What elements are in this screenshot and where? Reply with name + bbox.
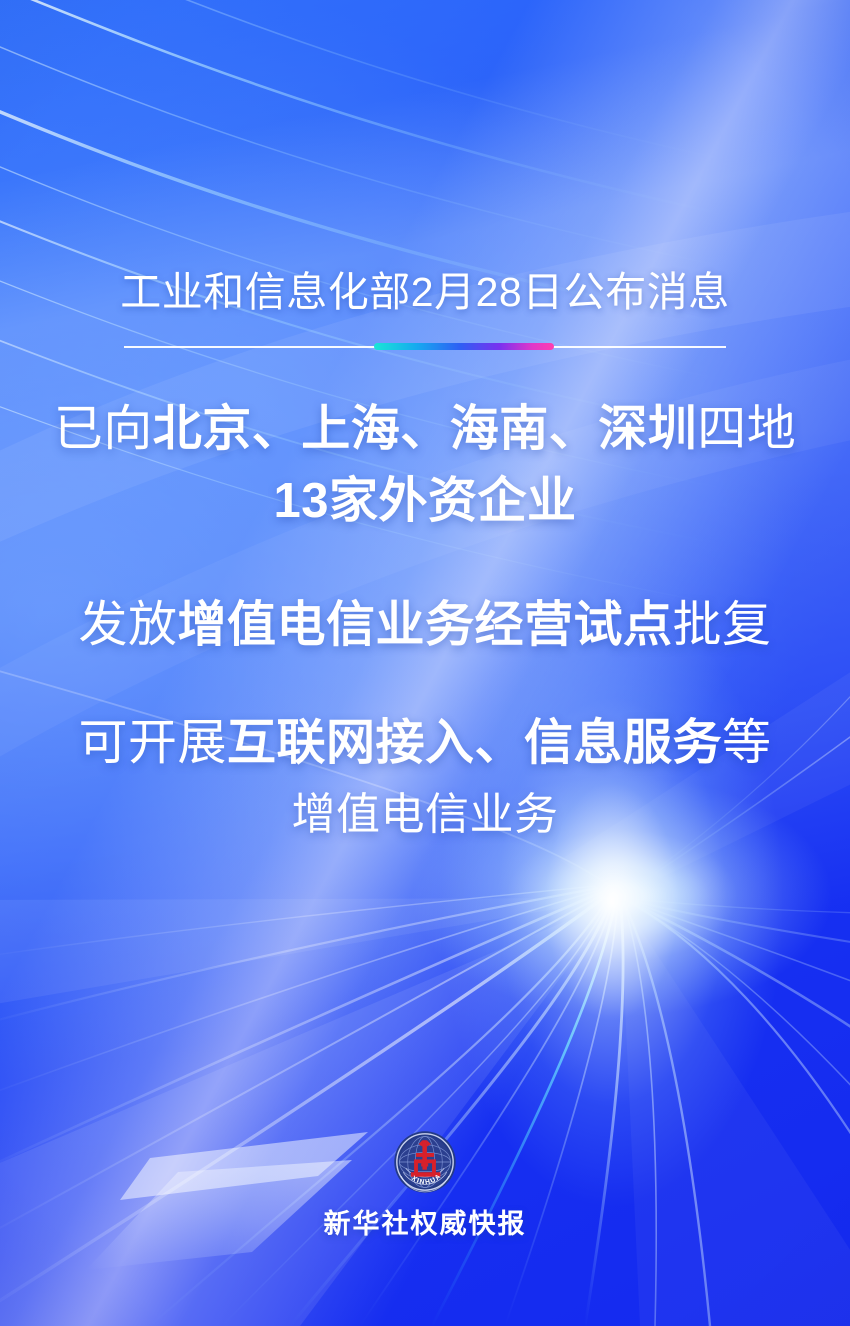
line-3-segment-3: 批复 bbox=[673, 598, 772, 652]
line-3-segment-2: 增值电信业务经营试点 bbox=[177, 598, 672, 652]
line-4-segment-3: 等 bbox=[722, 716, 772, 770]
line-4-segment-1: 可开展 bbox=[78, 716, 227, 770]
poster-content: 工业和信息化部2月28日公布消息 已向北京、上海、海南、深圳四地 13家外资企业… bbox=[0, 0, 850, 1326]
line-4-segment-2: 互联网接入、信息服务 bbox=[227, 716, 722, 770]
headline-line-5: 增值电信业务 bbox=[0, 786, 850, 844]
title-divider bbox=[124, 343, 726, 350]
page-title: 工业和信息化部2月28日公布消息 bbox=[0, 258, 850, 318]
line-2-segment-1: 13家外资企业 bbox=[273, 474, 576, 528]
line-3-segment-1: 发放 bbox=[78, 598, 177, 652]
xinhua-logo-icon: XINHUA bbox=[393, 1130, 457, 1194]
line-1-segment-3: 四地 bbox=[697, 402, 796, 456]
headline-line-4: 可开展互联网接入、信息服务等 bbox=[0, 712, 850, 774]
line-1-segment-2: 北京、上海、海南、深圳 bbox=[153, 402, 698, 456]
headline-line-3: 发放增值电信业务经营试点批复 bbox=[0, 594, 850, 656]
headline-line-2: 13家外资企业 bbox=[0, 470, 850, 532]
headline-line-1: 已向北京、上海、海南、深圳四地 bbox=[0, 398, 850, 460]
line-1-segment-1: 已向 bbox=[54, 402, 153, 456]
divider-accent-bar bbox=[374, 343, 554, 350]
brand-label: 新华社权威快报 bbox=[0, 1202, 850, 1241]
news-poster: 工业和信息化部2月28日公布消息 已向北京、上海、海南、深圳四地 13家外资企业… bbox=[0, 0, 850, 1326]
poster-footer: XINHUA 新华社权威快报 bbox=[0, 1130, 850, 1241]
line-5-segment-1: 增值电信业务 bbox=[292, 790, 559, 839]
